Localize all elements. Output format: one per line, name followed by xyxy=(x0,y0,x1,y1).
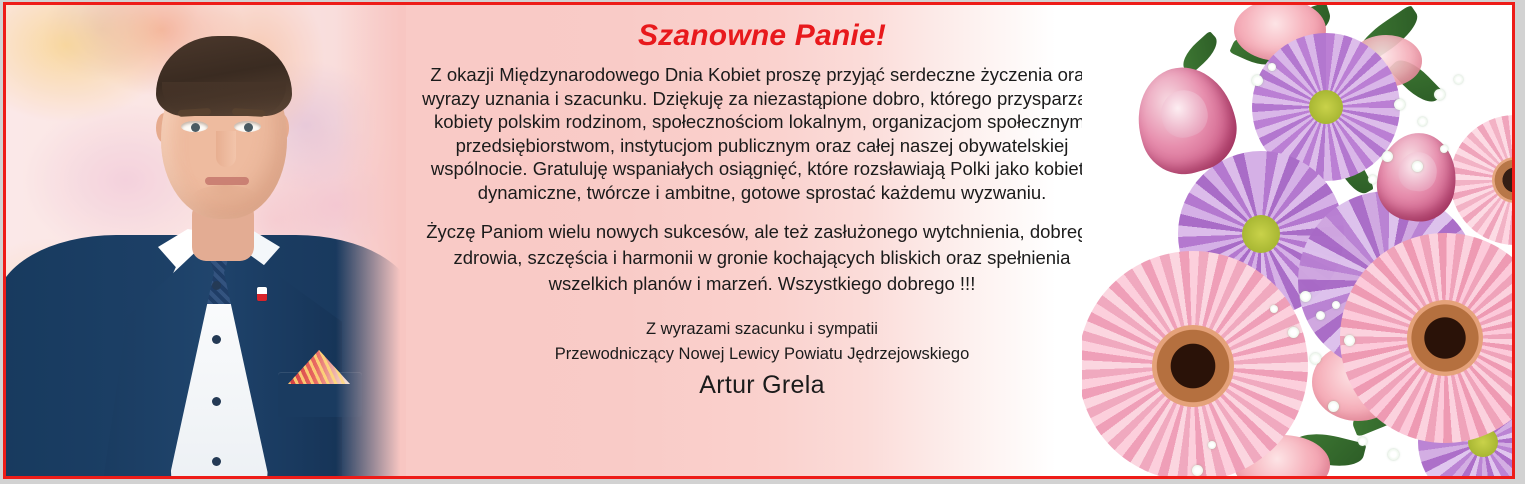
greeting-card: Szanowne Panie! Z okazji Międzynarodoweg… xyxy=(0,0,1525,484)
signature-role: Przewodniczący Nowej Lewicy Powiatu Jędr… xyxy=(555,342,970,367)
shirt-button xyxy=(212,457,221,466)
babys-breath xyxy=(1268,63,1276,71)
portrait-photo xyxy=(6,5,406,476)
babys-breath xyxy=(1300,291,1311,302)
babys-breath xyxy=(1440,145,1448,153)
babys-breath xyxy=(1288,327,1299,338)
babys-breath xyxy=(1332,301,1340,309)
message-paragraph-2: Życzę Paniom wielu nowych sukcesów, ale … xyxy=(417,219,1107,297)
mouth xyxy=(205,177,249,185)
babys-breath xyxy=(1412,161,1423,172)
babys-breath xyxy=(1192,465,1203,476)
shirt-button xyxy=(212,397,221,406)
pink-gerbera xyxy=(1082,251,1308,476)
hair xyxy=(156,36,292,116)
babys-breath xyxy=(1388,449,1399,460)
babys-breath xyxy=(1454,75,1463,84)
signature-name: Artur Grela xyxy=(699,373,825,398)
babys-breath xyxy=(1418,117,1427,126)
nose xyxy=(216,131,236,167)
babys-breath xyxy=(1382,151,1393,162)
babys-breath xyxy=(1208,441,1216,449)
pink-gerbera xyxy=(1450,115,1512,245)
flower-bouquet xyxy=(1082,5,1512,476)
card-frame: Szanowne Panie! Z okazji Międzynarodoweg… xyxy=(3,2,1515,479)
chin-shadow xyxy=(190,185,260,215)
card-title: Szanowne Panie! xyxy=(638,19,886,53)
babys-breath xyxy=(1358,437,1367,446)
babys-breath xyxy=(1328,401,1339,412)
signature-closing: Z wyrazami szacunku i sympatii xyxy=(646,317,878,342)
pupil-right xyxy=(244,123,253,132)
shirt-button xyxy=(212,281,221,290)
babys-breath xyxy=(1252,75,1263,86)
babys-breath xyxy=(1434,89,1445,100)
portrait-edge-fade xyxy=(336,5,406,476)
pupil-left xyxy=(191,123,200,132)
message-block: Szanowne Panie! Z okazji Międzynarodoweg… xyxy=(406,5,1118,476)
babys-breath xyxy=(1270,305,1278,313)
babys-breath xyxy=(1344,335,1355,346)
pink-gerbera xyxy=(1340,233,1512,443)
babys-breath xyxy=(1394,99,1405,110)
babys-breath xyxy=(1368,175,1377,184)
shirt-button xyxy=(212,335,221,344)
babys-breath xyxy=(1310,353,1321,364)
message-paragraph-1: Z okazji Międzynarodowego Dnia Kobiet pr… xyxy=(417,63,1107,204)
polish-flag-pin-icon xyxy=(257,287,267,301)
babys-breath xyxy=(1316,311,1325,320)
